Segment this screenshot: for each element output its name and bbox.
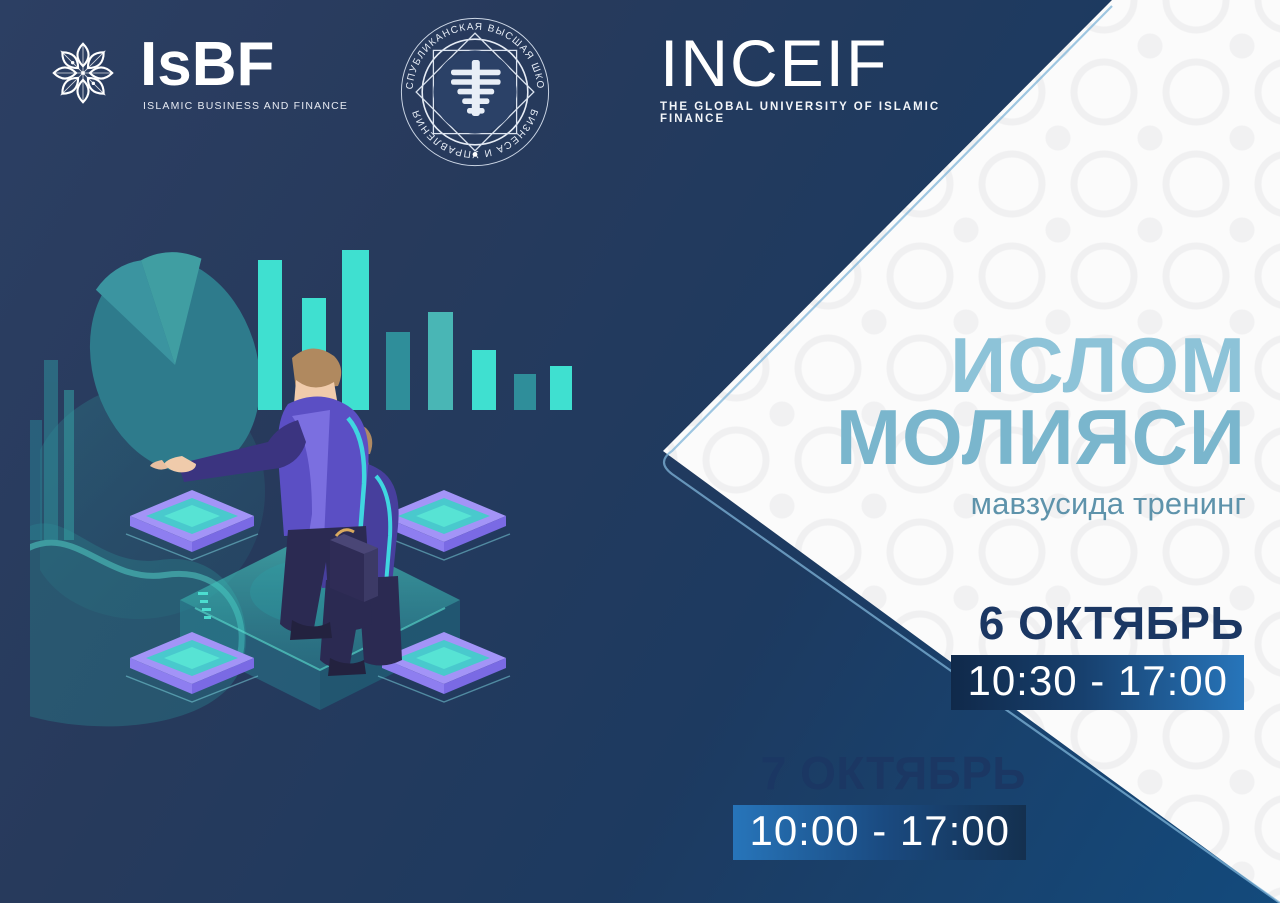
- headline-block: ИСЛОМ МОЛИЯСИ мавзусида тренинг: [606, 330, 1246, 522]
- date-block-1: 6 ОКТЯБРЬ 10:30 - 17:00: [724, 600, 1244, 710]
- inceif-name: INCEIF: [660, 32, 1000, 95]
- headline-subtitle: мавзусида тренинг: [606, 486, 1246, 522]
- background-bars: [30, 360, 74, 540]
- logo-isbf: IsBF ISLAMIC BUSINESS AND FINANCE: [40, 30, 348, 116]
- time-badge: 10:00 - 17:00: [733, 805, 1026, 860]
- islamic-rosette-icon: [40, 30, 126, 116]
- logo-inceif: INCEIF THE GLOBAL UNIVERSITY OF ISLAMIC …: [660, 32, 1000, 125]
- logo-row: IsBF ISLAMIC BUSINESS AND FINANCE: [0, 0, 1000, 170]
- isbf-name: IsBF: [140, 34, 348, 96]
- isbf-wordmark: IsBF ISLAMIC BUSINESS AND FINANCE: [140, 34, 348, 112]
- inceif-tagline: THE GLOBAL UNIVERSITY OF ISLAMIC FINANCE: [660, 101, 1000, 125]
- time-text: 10:30 - 17:00: [967, 657, 1228, 704]
- date-label: 6 ОКТЯБРЬ: [724, 600, 1244, 646]
- university-seal-icon: РЕСПУБЛИКАНСКАЯ ВЫСШАЯ ШКОЛА БИЗНЕСА И У…: [395, 12, 555, 172]
- time-badge: 10:30 - 17:00: [951, 655, 1244, 710]
- poster-canvas: IsBF ISLAMIC BUSINESS AND FINANCE: [0, 0, 1280, 903]
- analytics-illustration-svg: [30, 240, 610, 800]
- headline-line-1: ИСЛОМ: [606, 330, 1246, 402]
- date-label: 7 ОКТЯБРЬ: [506, 750, 1026, 796]
- date-block-2: 7 ОКТЯБРЬ 10:00 - 17:00: [506, 750, 1026, 860]
- isbf-tagline: ISLAMIC BUSINESS AND FINANCE: [140, 101, 348, 112]
- headline-line-2: МОЛИЯСИ: [606, 402, 1246, 474]
- time-text: 10:00 - 17:00: [749, 807, 1010, 854]
- illustration: [30, 240, 610, 800]
